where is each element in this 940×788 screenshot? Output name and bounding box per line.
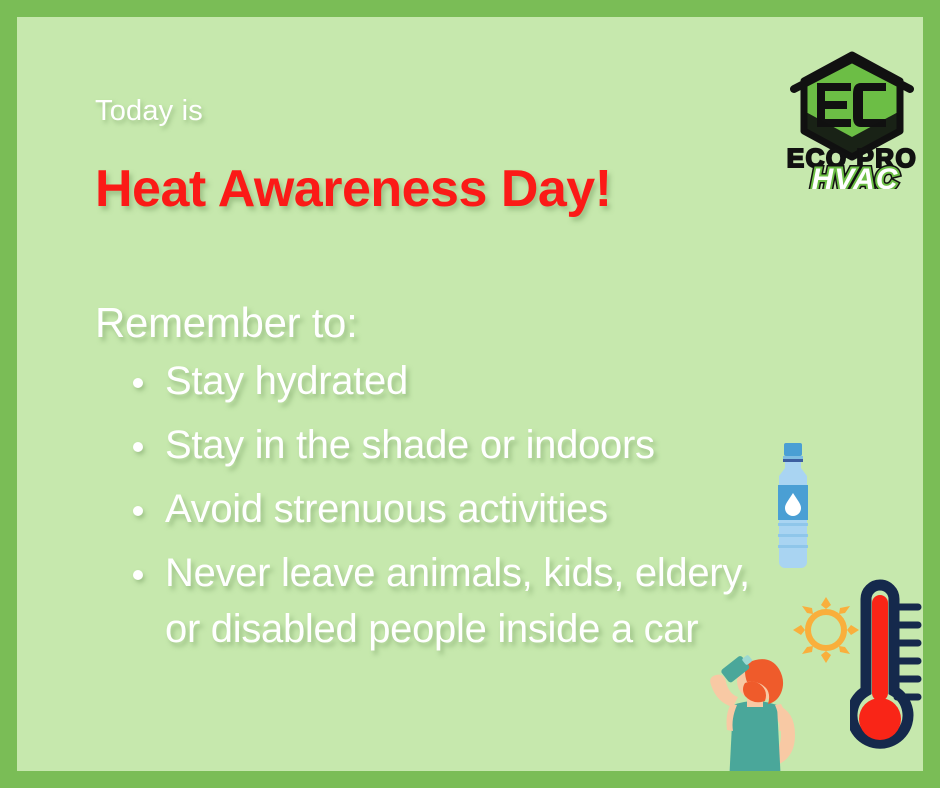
eyebrow-text: Today is bbox=[95, 95, 203, 128]
thermometer-ticks bbox=[897, 607, 918, 697]
list-item: Never leave animals, kids, eldery, or di… bbox=[129, 545, 769, 657]
list-item: Avoid strenuous activities bbox=[129, 481, 769, 537]
safety-tips-list: Stay hydrated Stay in the shade or indoo… bbox=[129, 353, 769, 665]
heat-awareness-poster: Today is Heat Awareness Day! Remember to… bbox=[0, 0, 940, 788]
thermometer-icon bbox=[850, 577, 923, 760]
poster-canvas: Today is Heat Awareness Day! Remember to… bbox=[17, 17, 923, 771]
list-item: Stay in the shade or indoors bbox=[129, 417, 769, 473]
page-title: Heat Awareness Day! bbox=[95, 159, 612, 219]
intro-text: Remember to: bbox=[95, 299, 358, 347]
hexagon-ec-monogram-icon bbox=[794, 55, 910, 157]
logo-secondary-text: HVAC bbox=[812, 163, 899, 189]
water-bottle-icon bbox=[765, 441, 821, 571]
list-item: Stay hydrated bbox=[129, 353, 769, 409]
man-drinking-water-illustration bbox=[703, 653, 813, 771]
eco-pro-hvac-logo: ECO PRO HVAC HVAC bbox=[769, 49, 923, 189]
tank-top bbox=[729, 701, 781, 771]
